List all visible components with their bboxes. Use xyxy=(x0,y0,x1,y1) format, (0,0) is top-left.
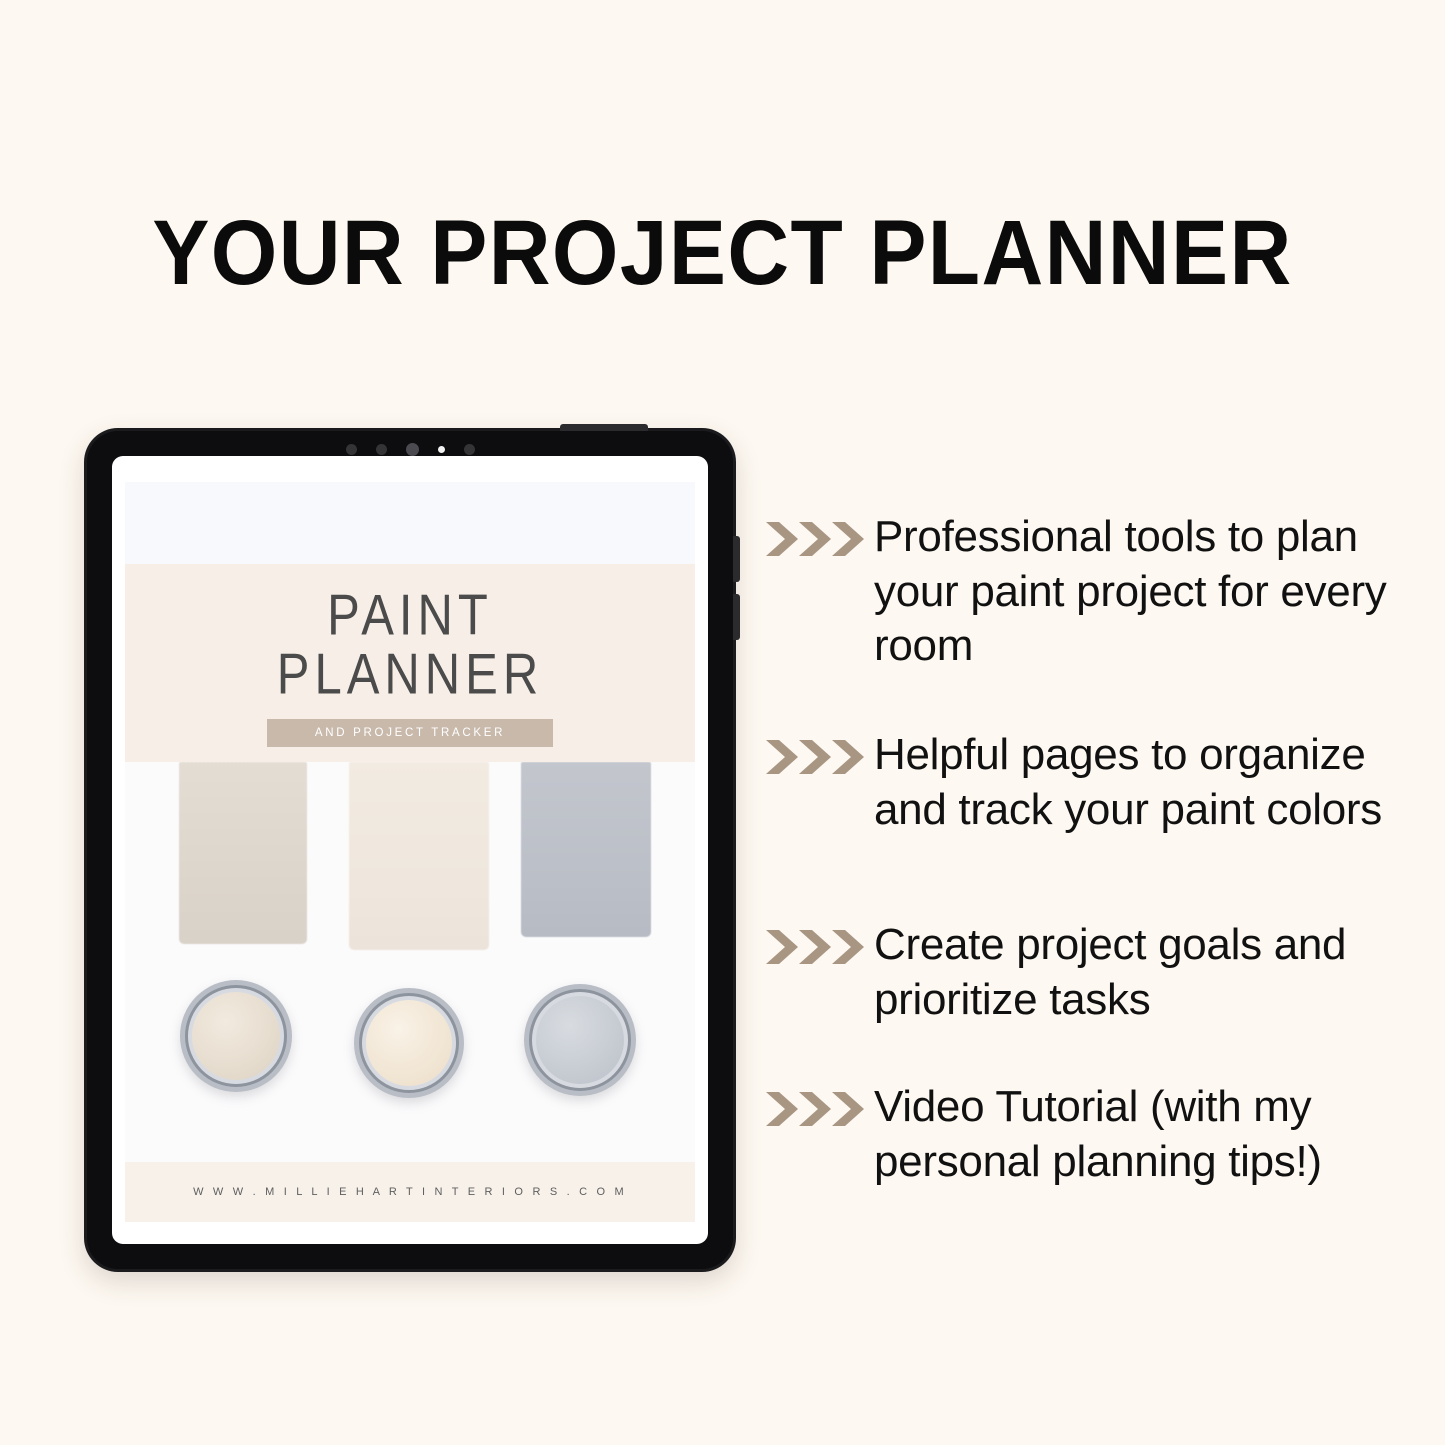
paint-can-2 xyxy=(354,988,464,1098)
camera-array xyxy=(84,443,736,456)
paint-swatch-2 xyxy=(349,762,489,950)
paint-can-fill xyxy=(536,996,624,1084)
feature-text: Create project goals and prioritize task… xyxy=(874,918,1394,1027)
feature-text: Helpful pages to organize and track your… xyxy=(874,728,1394,837)
feature-item: Create project goals and prioritize task… xyxy=(766,918,1406,1027)
camera-lens-dot-large xyxy=(406,443,419,456)
power-button[interactable] xyxy=(560,424,648,431)
triple-chevron-right-icon xyxy=(766,918,874,964)
paint-can-fill xyxy=(366,1000,452,1086)
cover-title: PAINT PLANNER xyxy=(277,586,543,705)
camera-sensor-dot xyxy=(464,444,475,455)
feature-text: Video Tutorial (with my personal plannin… xyxy=(874,1080,1394,1189)
cover-subtitle-banner: AND PROJECT TRACKER xyxy=(267,719,553,747)
volume-up-button[interactable] xyxy=(733,536,740,582)
tablet-mockup: PAINT PLANNER AND PROJECT TRACKER xyxy=(84,428,736,1272)
cover-footer: W W W . M I L L I E H A R T I N T E R I … xyxy=(125,1162,695,1222)
website-url: W W W . M I L L I E H A R T I N T E R I … xyxy=(193,1186,627,1198)
triple-chevron-right-icon xyxy=(766,510,874,556)
cover-top-fill xyxy=(125,482,695,564)
paint-swatch-1 xyxy=(179,762,307,944)
cover-title-band: PAINT PLANNER AND PROJECT TRACKER xyxy=(125,564,695,762)
cover-subtitle-text: AND PROJECT TRACKER xyxy=(315,727,505,739)
camera-lens-dot xyxy=(376,444,387,455)
feature-text: Professional tools to plan your paint pr… xyxy=(874,510,1394,674)
cover-title-line-1: PAINT xyxy=(327,584,493,648)
volume-down-button[interactable] xyxy=(733,594,740,640)
paint-can-3 xyxy=(524,984,636,1096)
camera-led-dot xyxy=(438,446,445,453)
feature-item: Helpful pages to organize and track your… xyxy=(766,728,1406,837)
paint-swatch-3 xyxy=(521,762,651,937)
paint-can-1 xyxy=(180,980,292,1092)
feature-item: Professional tools to plan your paint pr… xyxy=(766,510,1406,674)
cover-title-line-2: PLANNER xyxy=(277,646,543,706)
triple-chevron-right-icon xyxy=(766,1080,874,1126)
triple-chevron-right-icon xyxy=(766,728,874,774)
camera-lens-dot xyxy=(346,444,357,455)
feature-item: Video Tutorial (with my personal plannin… xyxy=(766,1080,1406,1189)
tablet-screen[interactable]: PAINT PLANNER AND PROJECT TRACKER xyxy=(112,456,708,1244)
cover-photo xyxy=(125,762,695,1162)
planner-cover-page: PAINT PLANNER AND PROJECT TRACKER xyxy=(125,482,695,1222)
paint-can-fill xyxy=(192,992,280,1080)
page-title: YOUR PROJECT PLANNER xyxy=(51,205,1395,302)
